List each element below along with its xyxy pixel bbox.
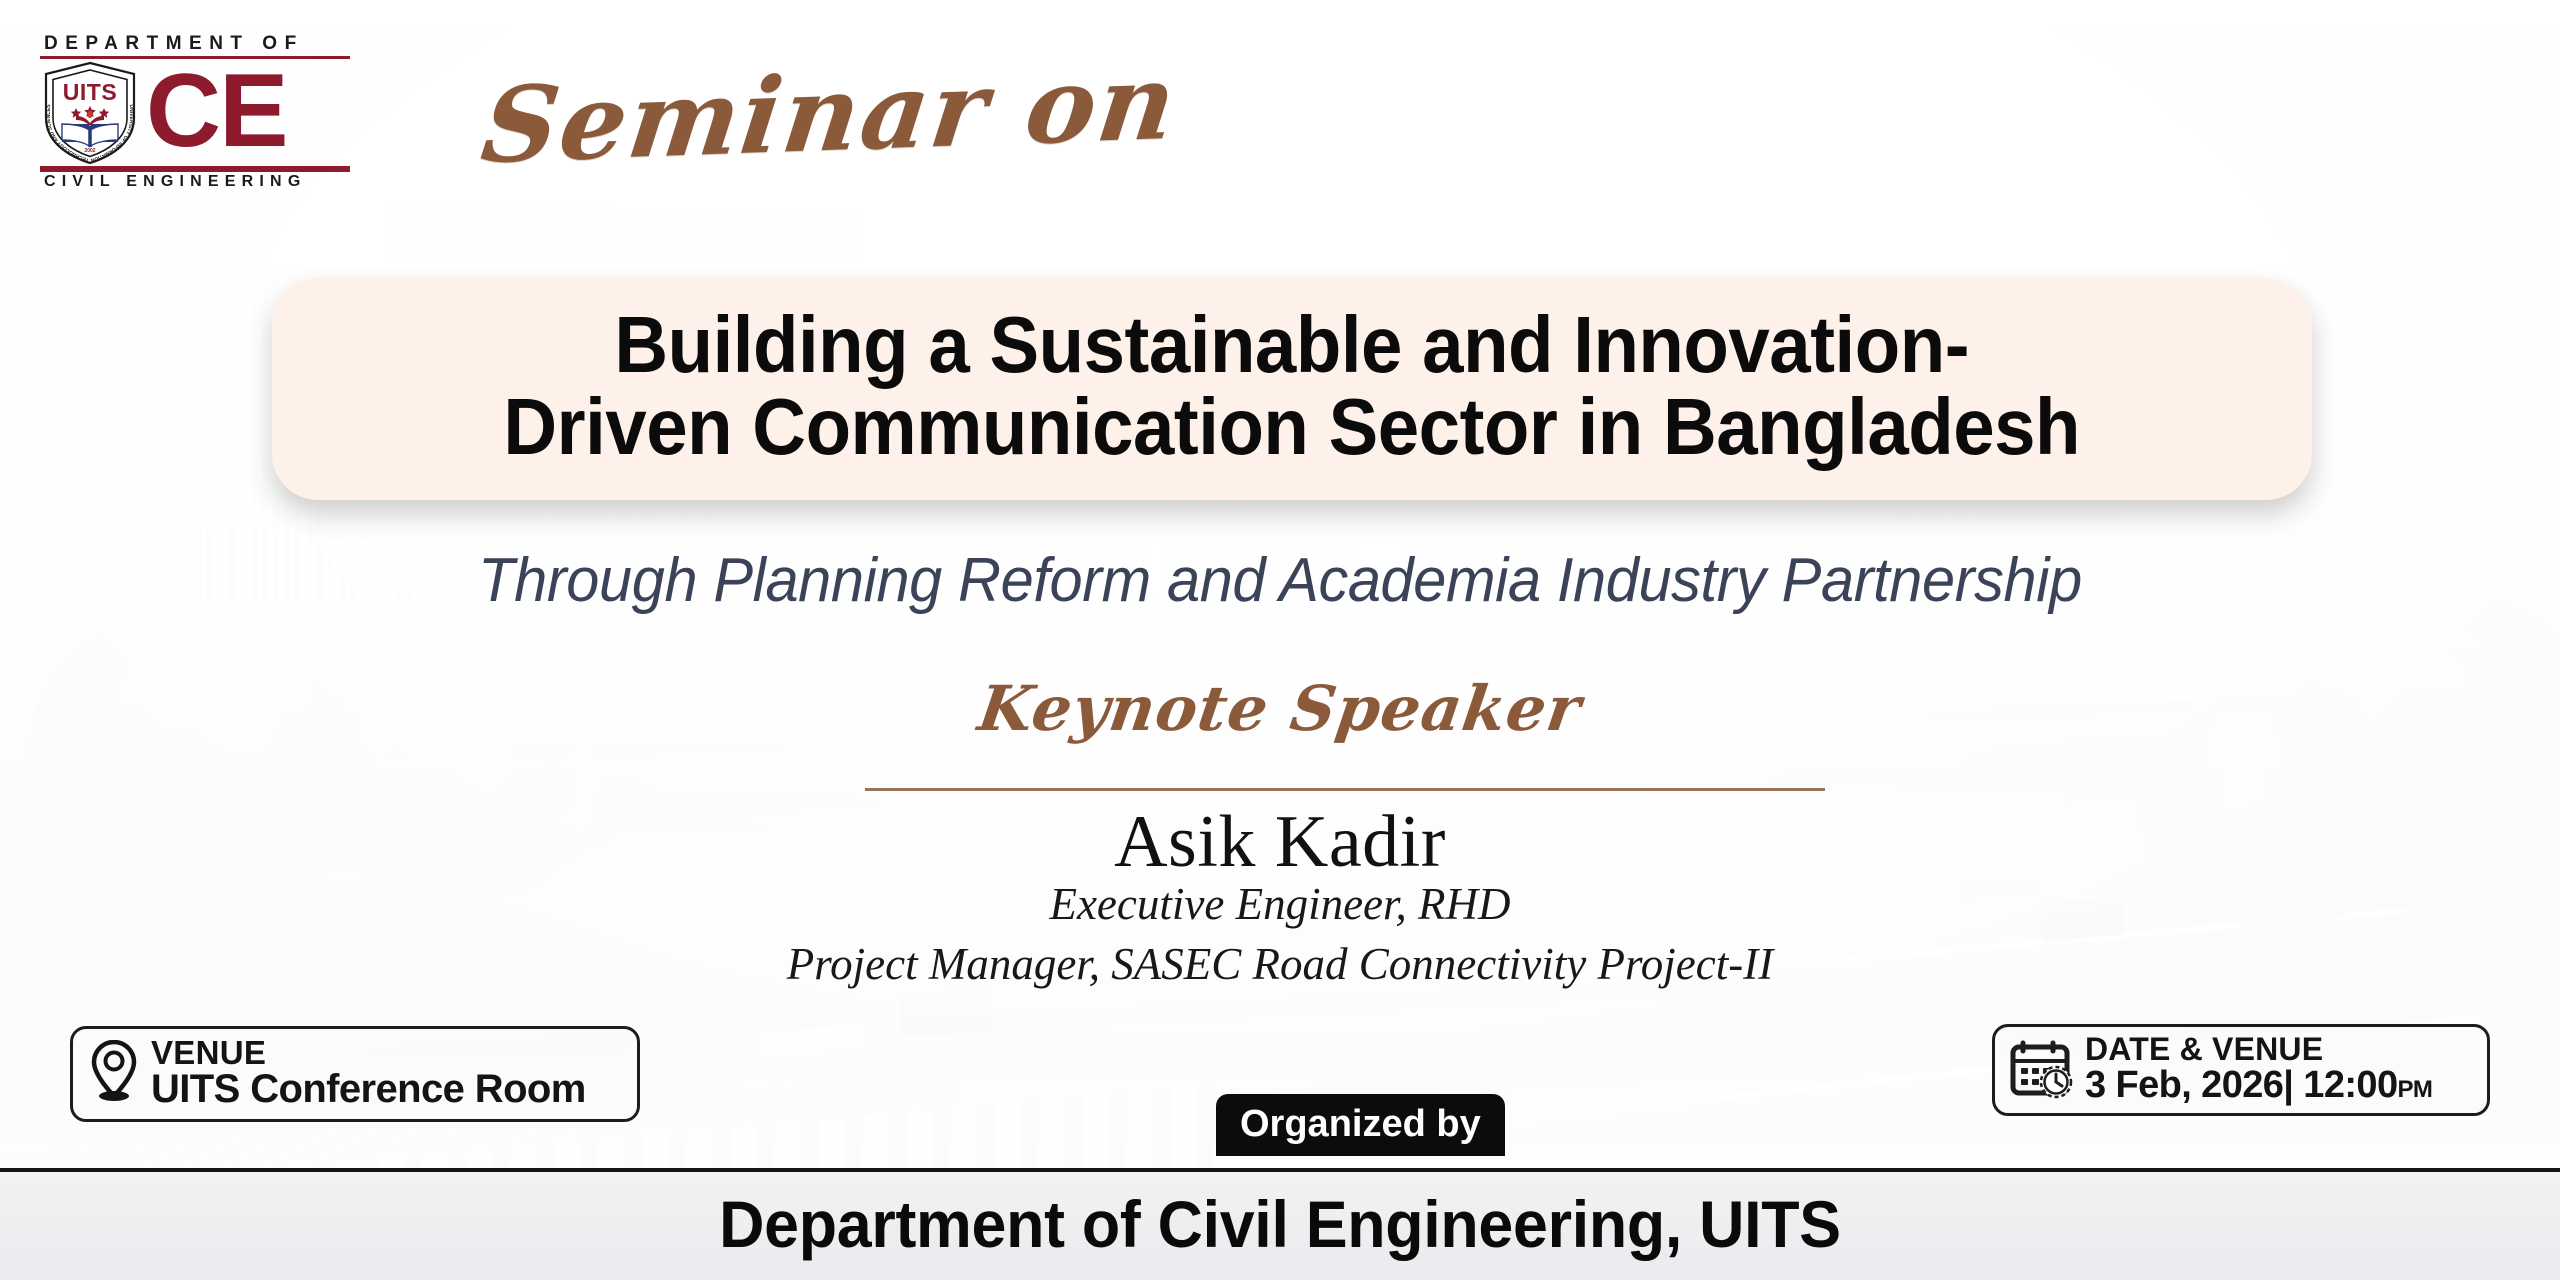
keynote-speaker-label: Keynote Speaker	[0, 672, 2560, 745]
venue-badge: VENUE UITS Conference Room	[70, 1026, 640, 1122]
organized-by-tab: Organized by	[1216, 1094, 1505, 1156]
speaker-role-secondary: Project Manager, SASEC Road Connectivity…	[0, 938, 2560, 990]
date-badge-datetime: 3 Feb, 2026| 12:00	[2085, 1064, 2397, 1106]
seminar-on-text: Seminar on	[476, 40, 1184, 187]
seminar-title-line-2: Driven Communication Sector in Banglades…	[504, 386, 2081, 468]
date-badge-value: 3 Feb, 2026| 12:00PM	[2085, 1066, 2432, 1105]
speaker-name: Asik Kadir	[0, 800, 2560, 885]
keynote-divider	[865, 788, 1825, 791]
seminar-title: Building a Sustainable and Innovation- D…	[504, 304, 2081, 467]
logo-civil-engineering-text: CIVIL ENGINEERING	[40, 174, 350, 190]
venue-badge-heading: VENUE	[151, 1036, 586, 1070]
seminar-title-line-1: Building a Sustainable and Innovation-	[504, 304, 2081, 386]
calendar-icon	[2009, 1037, 2071, 1102]
venue-badge-value: UITS Conference Room	[151, 1069, 586, 1110]
seminar-on-heading: Seminar on	[0, 52, 2560, 175]
logo-department-text: DEPARTMENT OF	[40, 34, 350, 53]
speaker-role-primary: Executive Engineer, RHD	[0, 878, 2560, 930]
seminar-banner: DEPARTMENT OF UITS	[0, 0, 2560, 1280]
organizer-name: Department of Civil Engineering, UITS	[64, 1186, 2496, 1262]
date-badge-ampm: PM	[2397, 1076, 2432, 1103]
date-badge-heading: DATE & VENUE	[2085, 1033, 2432, 1066]
date-badge: DATE & VENUE 3 Feb, 2026| 12:00PM	[1992, 1024, 2490, 1116]
clock-icon	[2039, 1065, 2073, 1104]
organized-by-label: Organized by	[1240, 1103, 1481, 1145]
seminar-subtitle: Through Planning Reform and Academia Ind…	[51, 545, 2509, 616]
title-panel: Building a Sustainable and Innovation- D…	[272, 278, 2312, 500]
location-pin-icon	[91, 1040, 137, 1107]
